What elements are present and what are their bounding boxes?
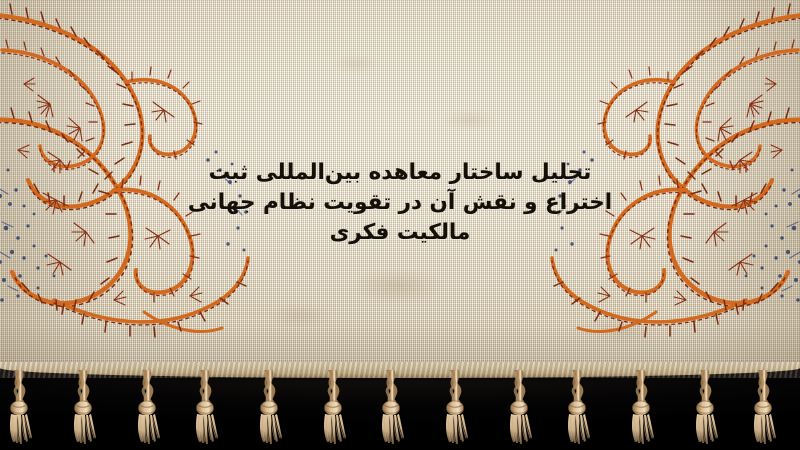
tassel — [750, 370, 784, 444]
title-line-3: مالکیت فکری — [150, 218, 650, 248]
slide-canvas: تحلیل ساختار معاهده بین‌المللی ثبت اخترا… — [0, 0, 800, 450]
title-line-1: تحلیل ساختار معاهده بین‌المللی ثبت — [150, 158, 650, 188]
slide-title: تحلیل ساختار معاهده بین‌المللی ثبت اخترا… — [150, 158, 650, 248]
tassel — [502, 370, 536, 444]
tassel — [378, 370, 412, 444]
tassel — [130, 370, 164, 444]
tassel — [316, 370, 350, 444]
tassel — [192, 370, 226, 444]
tassel — [688, 370, 722, 444]
tassel — [440, 370, 474, 444]
tassel — [254, 370, 288, 444]
tassel — [6, 370, 40, 444]
tassel — [564, 370, 598, 444]
tassel — [68, 370, 102, 444]
title-line-2: اختراع و نقش آن در تقویت نظام جهانی — [150, 188, 650, 218]
tassel — [626, 370, 660, 444]
knotted-tassel-fringe — [0, 370, 800, 450]
